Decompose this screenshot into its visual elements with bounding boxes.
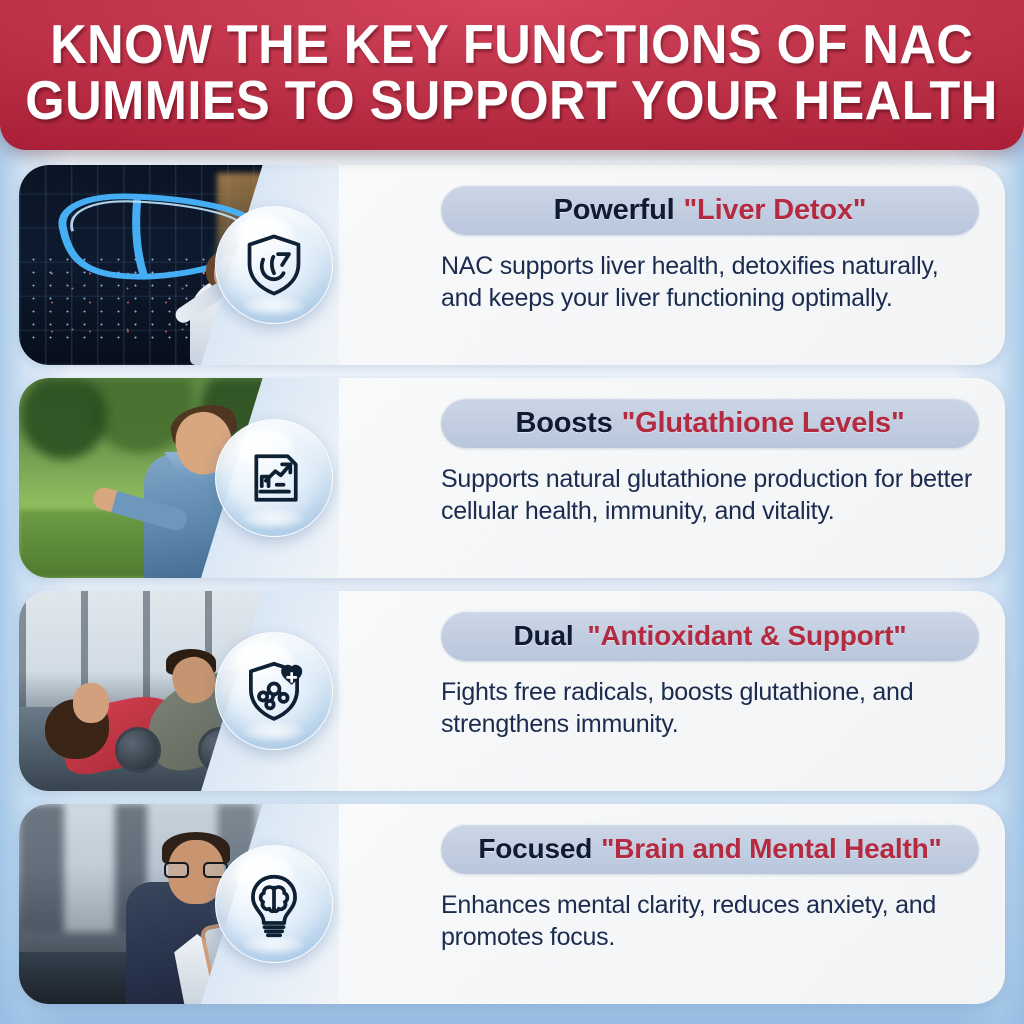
card-body-text: Fights free radicals, boosts glutathione… [441,676,979,740]
liver-shield-icon [215,206,333,324]
card-content-glutathione: Boosts "Glutathione Levels" Supports nat… [339,378,1005,578]
eyeglasses-icon [164,862,228,878]
card-title-pill-liver: Powerful "Liver Detox" [441,185,979,235]
card-title-lead: Powerful [554,194,675,227]
card-title-highlight: "Antioxidant & Support" [587,620,906,652]
card-title-pill-glutathione: Boosts "Glutathione Levels" [441,398,979,448]
card-content-antioxidant: Dual "Antioxidant & Support" Fights free… [339,591,1005,791]
card-title-lead: Dual [514,620,574,652]
card-title-highlight: "Liver Detox" [684,194,867,227]
infographic-poster: KNOW THE KEY FUNCTIONS OF NAC GUMMIES TO… [0,0,1024,1024]
header-title-line-1: KNOW THE KEY FUNCTIONS OF NAC [50,16,973,72]
shield-molecule-heart-icon [215,632,333,750]
header-banner: KNOW THE KEY FUNCTIONS OF NAC GUMMIES TO… [0,0,1024,150]
card-body-text: NAC supports liver health, detoxifies na… [441,250,979,314]
card-content-brain: Focused "Brain and Mental Health" Enhanc… [339,804,1005,1004]
card-title-highlight: "Glutathione Levels" [622,407,905,440]
card-content-liver: Powerful "Liver Detox" NAC supports live… [339,165,1005,365]
card-title-lead: Boosts [515,407,612,440]
card-title-pill-antioxidant: Dual "Antioxidant & Support" [441,611,979,661]
card-body-text: Enhances mental clarity, reduces anxiety… [441,889,979,953]
benefit-card-list: Powerful "Liver Detox" NAC supports live… [0,150,1024,1004]
growth-chart-icon [215,419,333,537]
benefit-card-glutathione-levels[interactable]: Boosts "Glutathione Levels" Supports nat… [19,378,1005,578]
brain-lightbulb-icon [215,845,333,963]
card-title-pill-brain: Focused "Brain and Mental Health" [441,824,979,874]
benefit-card-antioxidant-support[interactable]: Dual "Antioxidant & Support" Fights free… [19,591,1005,791]
card-body-text: Supports natural glutathione production … [441,463,979,527]
benefit-card-liver-detox[interactable]: Powerful "Liver Detox" NAC supports live… [19,165,1005,365]
header-title-line-2: GUMMIES TO SUPPORT YOUR HEALTH [26,72,998,128]
benefit-card-brain-mental-health[interactable]: Focused "Brain and Mental Health" Enhanc… [19,804,1005,1004]
card-title-lead: Focused [478,833,592,865]
card-title-highlight: "Brain and Mental Health" [601,833,942,865]
